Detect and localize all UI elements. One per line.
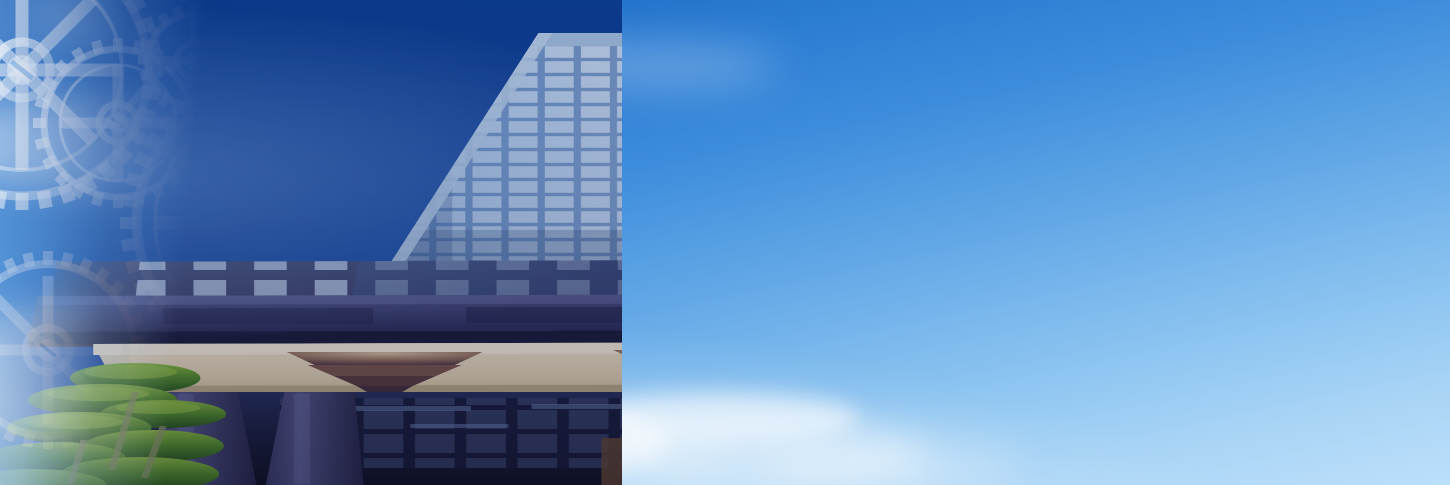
headquarters-building-photo bbox=[0, 0, 622, 485]
foliage-left bbox=[0, 363, 226, 485]
hero-banner: 创新务实 共赢共享 以客户为中心 Customer-oriented, Win-… bbox=[0, 0, 1450, 485]
podium-cornice bbox=[28, 293, 622, 347]
tower-left bbox=[350, 28, 622, 298]
